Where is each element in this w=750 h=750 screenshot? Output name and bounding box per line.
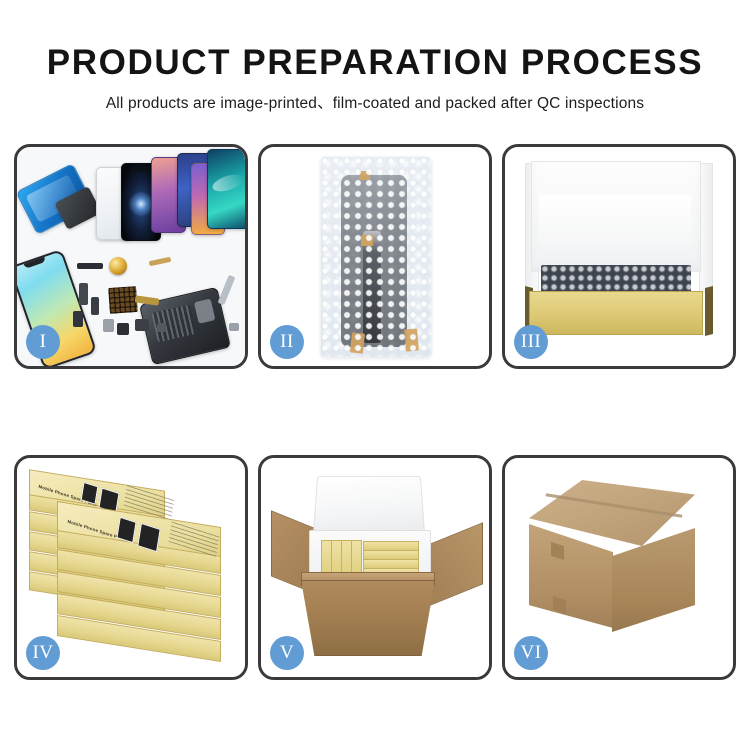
- box-corner-right: [705, 286, 713, 336]
- step-badge: VI: [514, 636, 548, 670]
- box-front-panel: [529, 291, 703, 335]
- step-badge: V: [270, 636, 304, 670]
- step-badge: II: [270, 325, 304, 359]
- step-badge: III: [514, 325, 548, 359]
- carton-right-face: [612, 528, 695, 632]
- page-header: PRODUCT PREPARATION PROCESS All products…: [0, 0, 750, 113]
- step-badge: IV: [26, 636, 60, 670]
- process-step-6: VI: [502, 455, 736, 680]
- screw-part: [229, 323, 239, 331]
- flex-cable-part: [79, 283, 88, 305]
- page-subtitle: All products are image-printed、film-coat…: [0, 82, 750, 113]
- box-flap-right: [699, 163, 713, 293]
- carton-body: [301, 580, 435, 656]
- flex-cable-part: [73, 311, 83, 327]
- bubble-wrap-bag: [321, 157, 431, 357]
- ic-chip-part: [108, 286, 138, 314]
- process-step-1: I: [14, 144, 248, 369]
- small-module-part: [103, 319, 114, 332]
- page-title: PRODUCT PREPARATION PROCESS: [0, 0, 750, 82]
- tweezers-tool: [218, 275, 236, 305]
- small-module-part: [117, 323, 129, 335]
- flex-cable-part: [77, 263, 103, 269]
- small-module-part: [135, 319, 149, 331]
- vibration-motor-part: [109, 257, 127, 275]
- gold-connector-part: [135, 295, 160, 305]
- process-step-grid: I II III: [14, 144, 736, 684]
- screw-part: [157, 323, 166, 332]
- box-stack: Mobile Phone Spare Parts Mobile Phone Sp…: [21, 474, 233, 664]
- flex-cable-part: [91, 297, 99, 315]
- step-badge: I: [26, 325, 60, 359]
- gold-connector-part: [149, 257, 172, 266]
- process-step-4: Mobile Phone Spare Parts Mobile Phone Sp…: [14, 455, 248, 680]
- process-step-3: III: [502, 144, 736, 369]
- process-step-5: V: [258, 455, 492, 680]
- carton-flap-right: [425, 522, 483, 607]
- foam-padding: [539, 195, 691, 273]
- process-step-2: II: [258, 144, 492, 369]
- carton-left-face: [529, 524, 613, 628]
- phone-teal: [207, 149, 245, 229]
- bubble-texture: [321, 157, 431, 357]
